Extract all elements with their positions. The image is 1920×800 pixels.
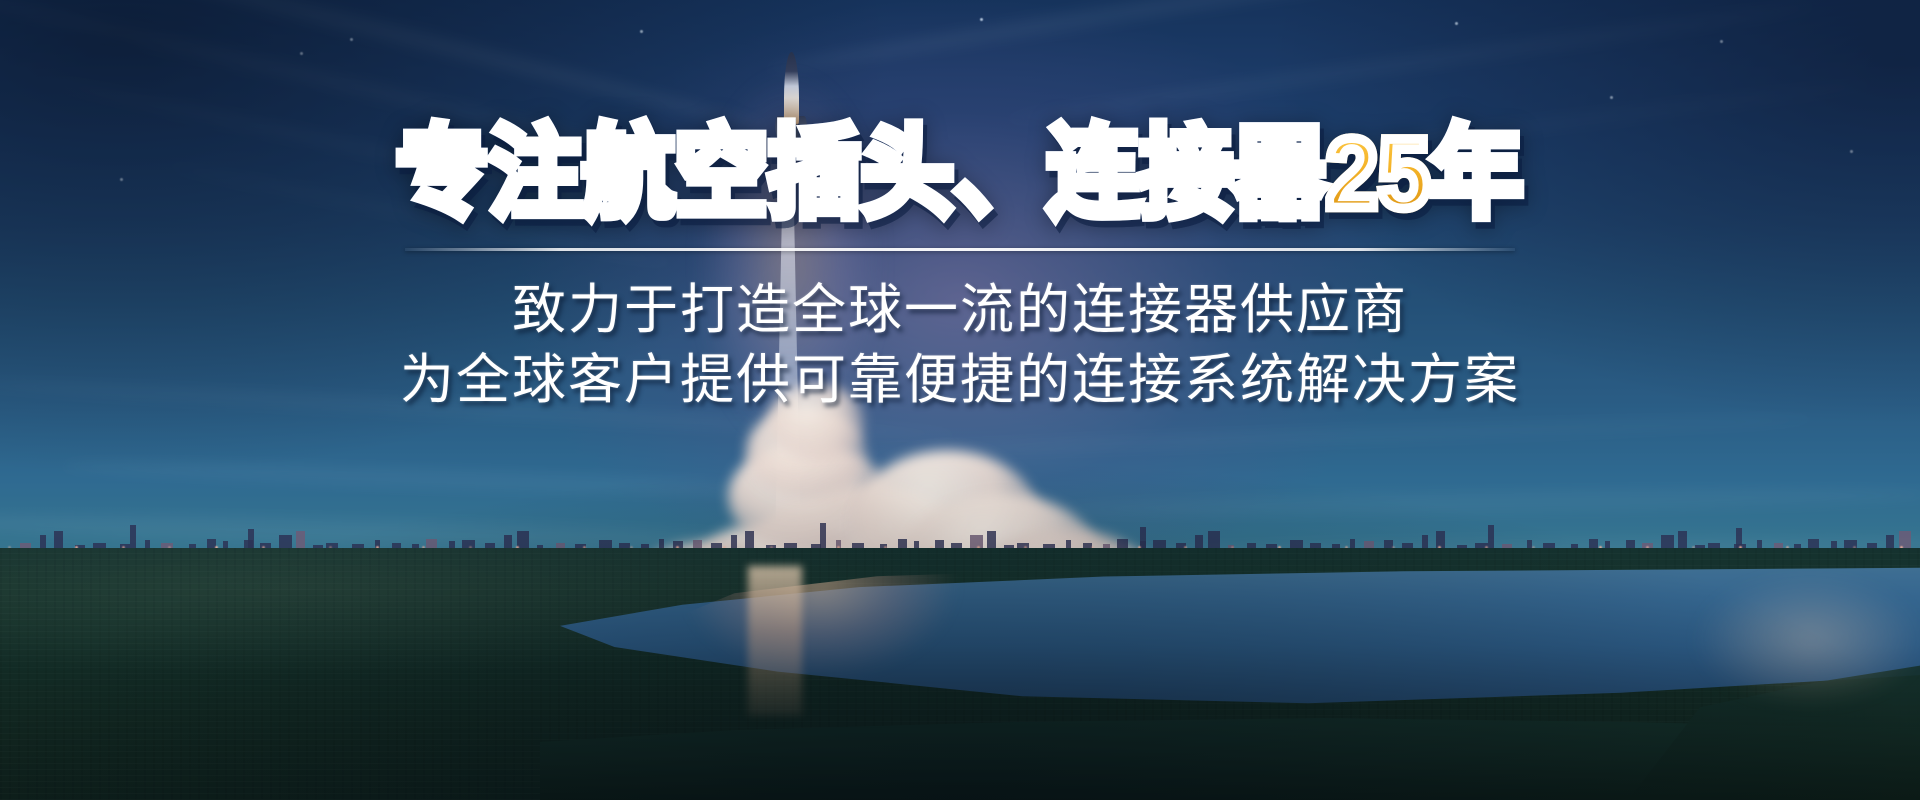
headline-blue-prefix: 专注航空插头、连接器 xyxy=(396,119,1326,229)
headline-blue-suffix: 年 xyxy=(1431,119,1524,229)
subtitle-line-2: 为全球客户提供可靠便捷的连接系统解决方案 xyxy=(400,347,1520,413)
divider xyxy=(405,248,1515,251)
page-title: 专注航空插头、连接器25年 xyxy=(396,124,1523,223)
hero-banner: 专注航空插头、连接器25年 致力于打造全球一流的连接器供应商 为全球客户提供可靠… xyxy=(0,0,1920,800)
banner-content: 专注航空插头、连接器25年 致力于打造全球一流的连接器供应商 为全球客户提供可靠… xyxy=(0,0,1920,800)
subtitle-line-1: 致力于打造全球一流的连接器供应商 xyxy=(512,277,1408,343)
headline-gold-number: 25 xyxy=(1326,119,1430,229)
